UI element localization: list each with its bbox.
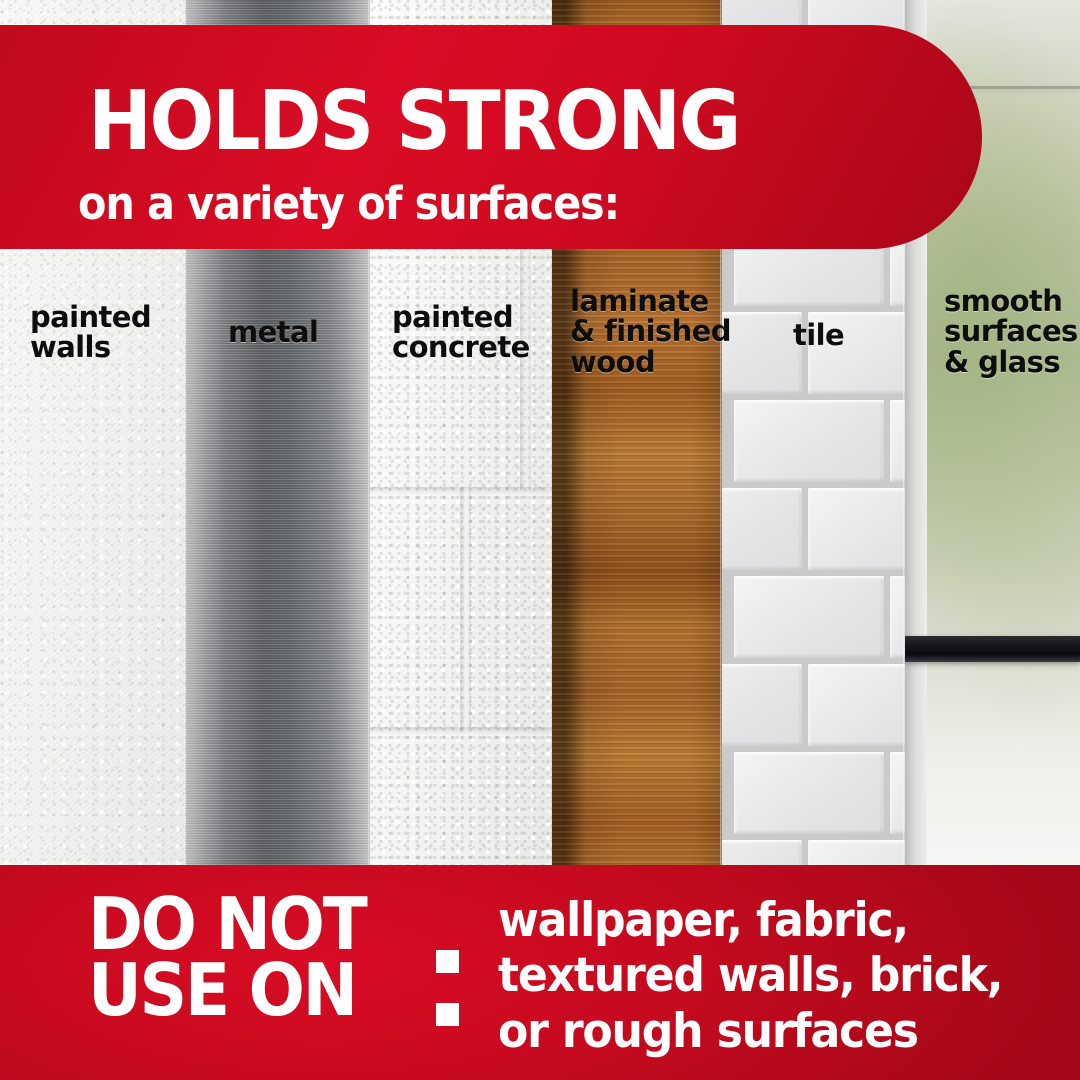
tile-unit (808, 488, 905, 570)
do-not-use-banner: DO NOT USE ON wallpaper, fabric, texture… (0, 865, 1080, 1080)
warning-heading: DO NOT USE ON (88, 891, 365, 1023)
infographic-canvas: painted walls metal painted concrete lam… (0, 0, 1080, 1080)
tile-unit (722, 488, 802, 570)
avoid-surfaces-list: wallpaper, fabric, textured walls, brick… (498, 893, 1002, 1059)
surface-label-tile: tile (793, 320, 844, 350)
holds-strong-banner: HOLDS STRONG on a variety of surfaces: (0, 25, 982, 249)
mortar-joint (460, 487, 471, 732)
surface-label-painted-walls: painted walls (30, 302, 151, 363)
colon-icon (436, 950, 459, 1026)
tile-unit (722, 664, 802, 746)
page-title: HOLDS STRONG (88, 83, 739, 162)
tile-unit (734, 400, 884, 482)
surface-label-laminate-wood: laminate & finished wood (570, 286, 731, 377)
tile-unit (734, 752, 884, 834)
tile-unit (722, 312, 802, 394)
tile-unit (808, 664, 905, 746)
window-frame-bar (905, 636, 1080, 662)
page-subtitle: on a variety of surfaces: (78, 181, 619, 226)
tile-unit (734, 576, 884, 658)
surface-label-metal: metal (228, 317, 318, 347)
surface-label-painted-concrete: painted concrete (392, 302, 530, 363)
surface-label-smooth-glass: smooth surfaces & glass (944, 286, 1078, 377)
